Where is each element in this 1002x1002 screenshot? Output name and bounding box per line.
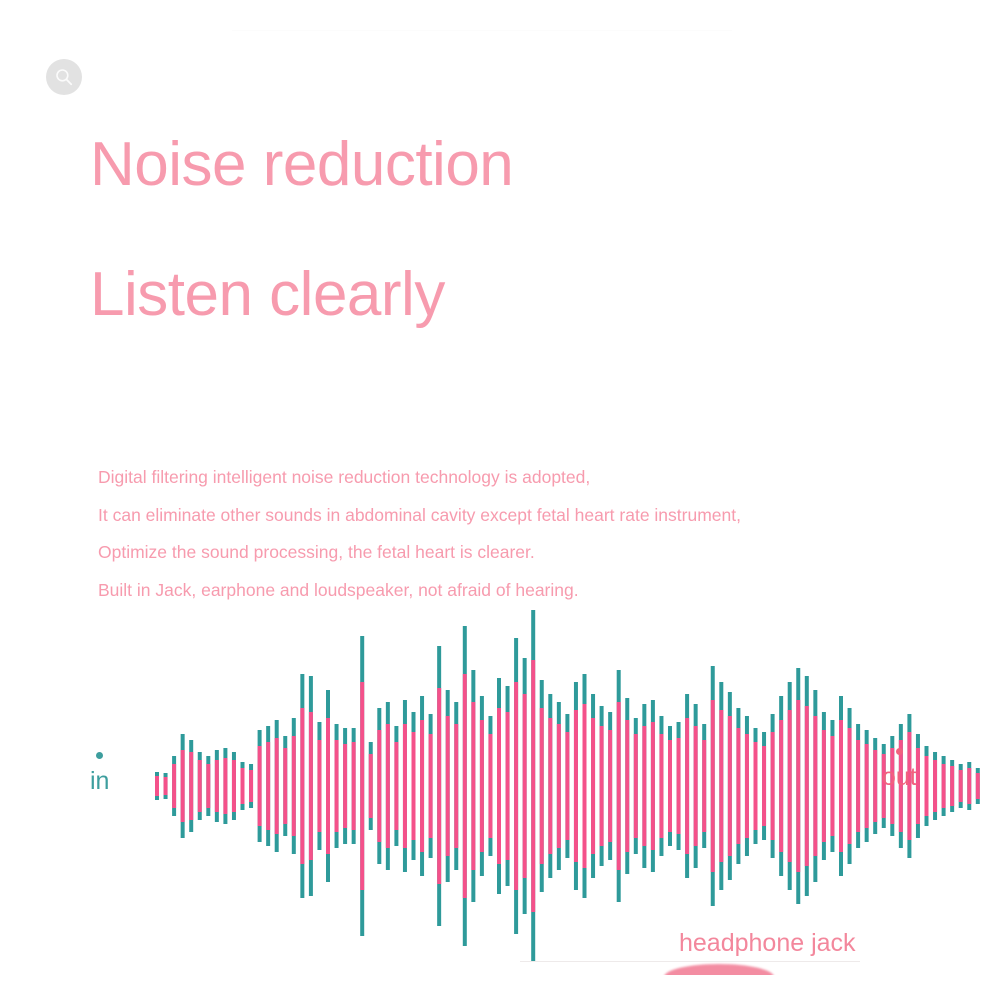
waveform-bar [215, 760, 219, 812]
waveform-bar [788, 710, 792, 862]
waveform-bar [223, 758, 227, 814]
waveform-bar [856, 724, 860, 848]
waveform-bar [497, 678, 501, 894]
waveform-bar [454, 724, 458, 848]
waveform-bar [736, 728, 740, 844]
waveform-bar [617, 702, 621, 870]
waveform-bar [865, 730, 869, 842]
description-line: Optimize the sound processing, the fetal… [98, 534, 898, 572]
waveform-bar [283, 736, 287, 836]
waveform-bar [848, 728, 852, 844]
waveform-bar [335, 740, 339, 832]
input-marker-label: in [90, 768, 109, 794]
waveform-bar [591, 694, 595, 878]
waveform-bar [565, 714, 569, 858]
waveform-bar [745, 734, 749, 838]
waveform-bar [506, 686, 510, 886]
waveform-bar [813, 690, 817, 882]
waveform-bar [266, 726, 270, 846]
waveform-bar [420, 696, 424, 876]
waveform-bar [933, 760, 937, 812]
waveform-bar [574, 682, 578, 890]
waveform-bar [659, 716, 663, 856]
waveform-bar [865, 744, 869, 828]
waveform-bar [412, 712, 416, 860]
waveform-bar [283, 748, 287, 824]
waveform-bar [634, 734, 638, 838]
waveform-bar [805, 676, 809, 896]
waveform-bar [531, 610, 535, 962]
waveform-bar [360, 682, 364, 890]
waveform-bar [694, 726, 698, 846]
waveform-bar [745, 716, 749, 856]
waveform-bar [480, 696, 484, 876]
waveform-bar [548, 694, 552, 878]
waveform-bar [317, 722, 321, 850]
waveform-bar [873, 750, 877, 822]
waveform-bar [762, 732, 766, 840]
waveform-bar [856, 740, 860, 832]
waveform-bar [642, 704, 646, 868]
waveform-bar [771, 714, 775, 858]
output-dot-icon [896, 748, 903, 755]
input-marker: in [90, 752, 109, 794]
waveform-bar [403, 724, 407, 848]
waveform-bar [275, 738, 279, 834]
waveform-bar [471, 670, 475, 902]
waveform-bar [275, 720, 279, 852]
waveform-bar [959, 764, 963, 808]
waveform-bar [805, 706, 809, 866]
waveform-bar [762, 746, 766, 826]
waveform-bar [437, 688, 441, 884]
search-icon [54, 67, 74, 87]
waveform-bar [523, 694, 527, 878]
waveform-bar [352, 742, 356, 830]
waveform-bar [189, 752, 193, 820]
waveform-bar [258, 730, 262, 842]
waveform-bar [548, 718, 552, 854]
waveform-bar [976, 773, 980, 799]
waveform-bar [206, 764, 210, 808]
waveform-bar [266, 742, 270, 830]
waveform-bar [942, 764, 946, 808]
waveform-bar [873, 738, 877, 834]
waveform-bar [711, 666, 715, 906]
waveform-bar [531, 660, 535, 912]
waveform-bar [446, 716, 450, 856]
waveform-bar [642, 726, 646, 846]
waveform-bar [292, 736, 296, 836]
headphone-jack-label: headphone jack [679, 928, 856, 958]
waveform-bar [412, 732, 416, 840]
waveform-bar [454, 702, 458, 870]
waveform-bar [309, 676, 313, 896]
waveform-bar [677, 738, 681, 834]
waveform-bar [779, 720, 783, 852]
waveform-bar [232, 752, 236, 820]
waveform-bar [813, 716, 817, 856]
waveform-bar [830, 720, 834, 852]
waveform-bar [249, 764, 253, 808]
waveform-bar [634, 718, 638, 854]
product-page: Noise reduction Listen clearly Digital f… [0, 0, 1002, 1002]
waveform-bar [651, 700, 655, 872]
waveform-bar [540, 680, 544, 892]
waveform-bar [967, 768, 971, 804]
waveform-bar [343, 744, 347, 828]
waveform-bar [429, 714, 433, 858]
waveform-bar [241, 768, 245, 804]
waveform-bar [925, 746, 929, 826]
waveform-bar [659, 734, 663, 838]
waveform-bar [565, 732, 569, 840]
waveform-bar [583, 674, 587, 898]
waveform-bar [754, 728, 758, 844]
description-line: Built in Jack, earphone and loudspeaker,… [98, 572, 898, 610]
waveform-bar [677, 722, 681, 850]
waveform-bar [181, 750, 185, 822]
waveform-bar [796, 700, 800, 872]
waveform-bar [463, 626, 467, 946]
waveform-bar [685, 718, 689, 854]
waveform-bar [976, 768, 980, 804]
waveform-bar [830, 736, 834, 836]
waveform-bar [300, 708, 304, 864]
waveform-bar [942, 756, 946, 816]
waveform-bar [625, 720, 629, 852]
waveform-bar [719, 710, 723, 862]
waveform-bar [925, 756, 929, 816]
waveform-bar [728, 692, 732, 880]
waveform-bar [779, 696, 783, 876]
waveform-bar [394, 726, 398, 846]
waveform-bar [292, 718, 296, 854]
waveform-bar [420, 720, 424, 852]
waveform-bar [471, 702, 475, 870]
waveform-bar [241, 762, 245, 810]
waveform-bar [617, 670, 621, 902]
waveform-bar [360, 636, 364, 936]
waveform-bar [181, 734, 185, 838]
waveform-bar [198, 752, 202, 820]
description-line: Digital filtering intelligent noise redu… [98, 459, 898, 497]
waveform-bar [352, 728, 356, 844]
waveform-bar [369, 754, 373, 818]
waveform-bar [497, 708, 501, 864]
waveform-bar [668, 740, 672, 832]
waveform-bar [959, 770, 963, 802]
waveform-bar [754, 742, 758, 830]
waveform-bar [164, 773, 168, 799]
waveform-bar [967, 762, 971, 810]
waveform-bar [933, 752, 937, 820]
waveform-bar [198, 760, 202, 812]
waveform-bar [514, 682, 518, 890]
waveform-bar [189, 740, 193, 832]
waveform-bar [771, 732, 775, 840]
waveform-bar [608, 712, 612, 860]
waveform-bar [822, 730, 826, 842]
output-marker: out [882, 748, 917, 790]
waveform-bar [822, 712, 826, 860]
waveform-bar [326, 718, 330, 854]
waveform-bar [702, 740, 706, 832]
waveform-bar [685, 694, 689, 878]
waveform-bar [540, 708, 544, 864]
waveform-bar [591, 718, 595, 854]
waveform-bar [335, 724, 339, 848]
waveform-bar [583, 704, 587, 868]
waveform-bar [788, 682, 792, 890]
waveform-bar [386, 702, 390, 870]
waveform-bar [694, 704, 698, 868]
waveform-bar [668, 726, 672, 846]
waveform-bar [343, 728, 347, 844]
waveform-bar [600, 706, 604, 866]
input-dot-icon [96, 752, 103, 759]
feature-description: Digital filtering intelligent noise redu… [98, 459, 898, 609]
waveform-bar [326, 690, 330, 882]
waveform-bar [651, 722, 655, 850]
waveform-bar [488, 716, 492, 856]
waveform-bar [839, 720, 843, 852]
waveform-bar [702, 724, 706, 848]
waveform-bar [523, 658, 527, 914]
waveform-bar [488, 734, 492, 838]
waveform-bar [950, 760, 954, 812]
waveform-bar [848, 708, 852, 864]
waveform-bar [172, 764, 176, 808]
waveform-bar [155, 772, 159, 800]
waveform-series-pink-core [155, 660, 980, 912]
waveform-bar [206, 756, 210, 816]
waveform-bar [506, 712, 510, 860]
waveform-bar [711, 700, 715, 872]
waveform-bar [309, 712, 313, 860]
waveform-bar [172, 756, 176, 816]
top-divider [232, 30, 732, 31]
waveform-bar [429, 734, 433, 838]
waveform-bar [796, 668, 800, 904]
waveform-bar [557, 702, 561, 870]
waveform-bar [377, 708, 381, 864]
waveform-bar [232, 760, 236, 812]
waveform-bar [386, 724, 390, 848]
waveform-bar [437, 646, 441, 926]
callout-rule [520, 961, 860, 962]
waveform-bar [249, 770, 253, 802]
waveform-bar [223, 748, 227, 824]
waveform-bar [317, 740, 321, 832]
waveform-bar [403, 700, 407, 872]
waveform-bar [574, 710, 578, 862]
waveform-bar [155, 776, 159, 796]
page-title-line1: Noise reduction [90, 128, 513, 202]
waveform-bar [258, 746, 262, 826]
output-marker-label: out [882, 764, 917, 790]
page-title-line2: Listen clearly [90, 258, 445, 332]
waveform-bar [215, 750, 219, 822]
waveform-bar [839, 696, 843, 876]
description-line: It can eliminate other sounds in abdomin… [98, 497, 898, 535]
waveform-bar [463, 674, 467, 898]
waveform-bar [300, 674, 304, 898]
waveform-bar [514, 638, 518, 934]
waveform-bar [164, 777, 168, 795]
waveform-bar [728, 716, 732, 856]
waveform-bar [719, 682, 723, 890]
waveform-bar [950, 766, 954, 806]
waveform-bar [369, 742, 373, 830]
waveform-bar [608, 730, 612, 842]
waveform-series-teal-envelope [155, 610, 980, 962]
waveform-bar [394, 742, 398, 830]
search-button[interactable] [46, 59, 82, 95]
waveform-bar [480, 720, 484, 852]
waveform-bar [377, 730, 381, 842]
device-edge-mask [640, 975, 810, 1002]
waveform-bar [736, 708, 740, 864]
waveform-bar [446, 690, 450, 882]
waveform-bar [625, 698, 629, 874]
waveform-bar [600, 726, 604, 846]
waveform-bar [557, 724, 561, 848]
